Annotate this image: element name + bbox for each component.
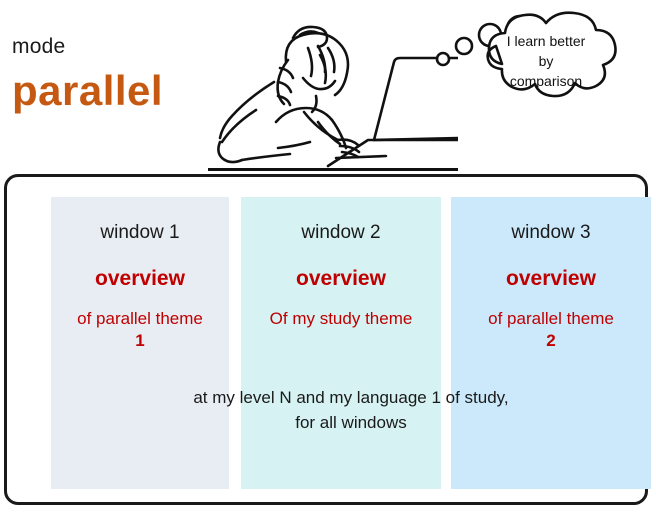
window-panel-2[interactable]: window 2 overview Of my study theme: [241, 197, 441, 489]
thought-bubble: I learn better by comparison: [432, 4, 654, 134]
mode-label: mode: [12, 36, 65, 57]
window-2-title: window 2: [241, 223, 441, 244]
desk-line: [208, 168, 458, 171]
window-panel-3[interactable]: window 3 overview of parallel theme 2: [451, 197, 651, 489]
mode-value: parallel: [12, 70, 163, 112]
window-panel-1[interactable]: window 1 overview of parallel theme 1: [51, 197, 229, 489]
window-1-title: window 1: [51, 223, 229, 244]
window-3-number: 2: [451, 330, 651, 352]
window-1-number: 1: [51, 330, 229, 352]
window-2-subtitle: Of my study theme: [241, 308, 441, 330]
thought-bubble-line-2: by: [474, 51, 618, 71]
windows-container: window 1 overview of parallel theme 1 wi…: [4, 174, 648, 505]
thought-bubble-text: I learn better by comparison: [474, 31, 618, 91]
window-3-title: window 3: [451, 223, 651, 244]
person-studying-illustration: [208, 0, 458, 172]
window-2-overview-heading: overview: [241, 267, 441, 290]
windows-row: window 1 overview of parallel theme 1 wi…: [7, 177, 645, 502]
window-3-subtitle: of parallel theme: [451, 308, 651, 330]
window-3-overview-heading: overview: [451, 267, 651, 290]
thought-bubble-line-3: comparison: [474, 71, 618, 91]
header: mode parallel: [0, 0, 656, 174]
thought-bubble-line-1: I learn better: [474, 31, 618, 51]
window-1-subtitle: of parallel theme: [51, 308, 229, 330]
window-1-overview-heading: overview: [51, 267, 229, 290]
